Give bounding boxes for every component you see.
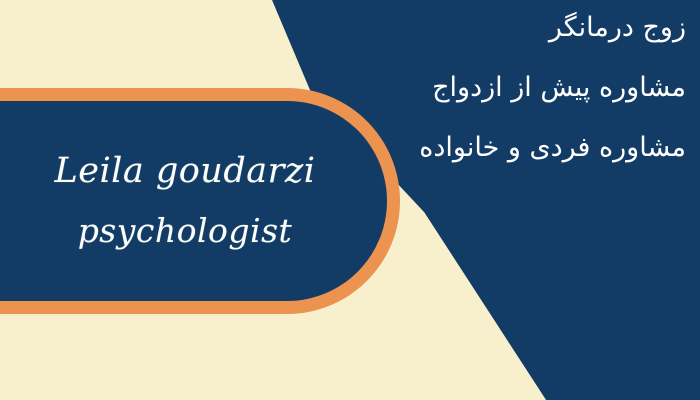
service-item-couples-therapy: زوج درمانگر <box>386 6 686 50</box>
business-card-poster: Leila goudarzi psychologist زوج درمانگر … <box>0 0 700 400</box>
navy-pill-fill <box>0 101 387 301</box>
services-list: زوج درمانگر مشاوره پیش از ازدواج مشاوره … <box>386 6 686 170</box>
service-item-individual-family-counseling: مشاوره فردی و خانواده <box>386 126 686 170</box>
service-item-premarital-counseling: مشاوره پیش از ازدواج <box>386 66 686 110</box>
orange-pill-frame <box>0 88 400 314</box>
